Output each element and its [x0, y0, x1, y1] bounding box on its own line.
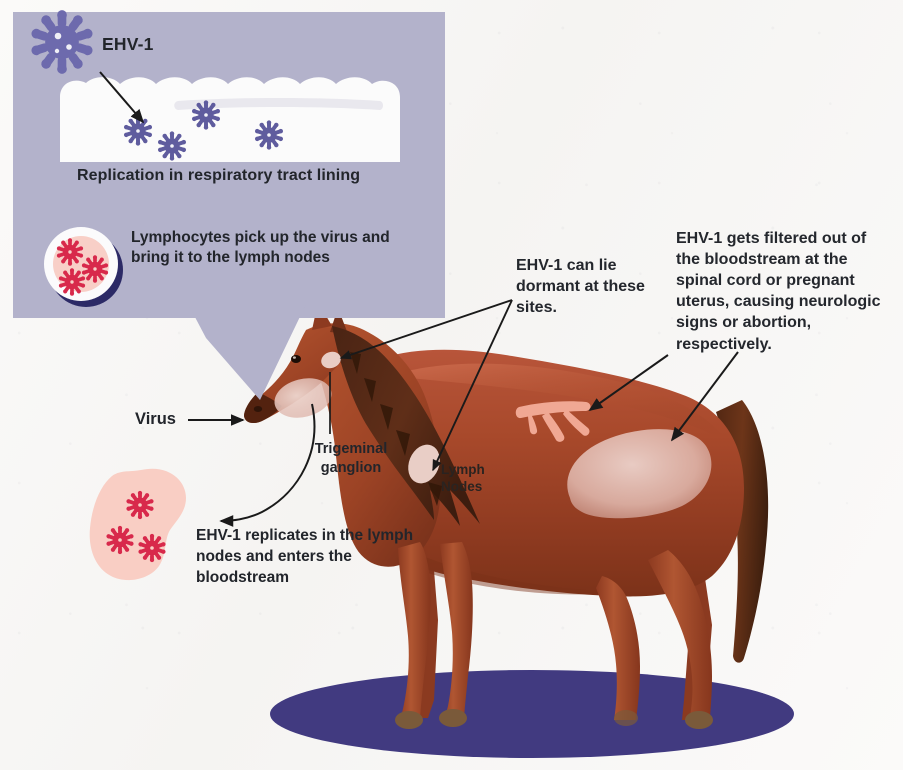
trigeminal-ganglion-marker [319, 349, 343, 371]
horse-tail [716, 400, 768, 663]
lymph-node-icon [90, 469, 186, 580]
uterus-highlight-patch [567, 429, 711, 518]
horse-nostril [254, 406, 262, 412]
lymphocyte-caption: Lymphocytes pick up the virus and bring … [131, 228, 421, 269]
virus-pointer-label: Virus [135, 410, 176, 429]
horse-muzzle [244, 392, 282, 423]
horse-front-leg-2 [440, 542, 473, 722]
arrow-filtered-to-spinal-cord [590, 355, 668, 410]
arrow-dormant-to-lymphnode [433, 300, 512, 470]
ground-shadow-ellipse [270, 670, 794, 758]
lymph-node-marker [403, 440, 446, 488]
horse-mane [332, 326, 480, 526]
filtered-bloodstream-caption: EHV-1 gets filtered out of the bloodstre… [676, 228, 894, 355]
horse-head [244, 327, 356, 423]
replicates-caption: EHV-1 replicates in the lymph nodes and … [196, 526, 426, 589]
info-panel [13, 12, 445, 318]
replication-caption: Replication in respiratory tract lining [77, 167, 360, 185]
arrow-filtered-to-uterus [672, 352, 738, 440]
dormant-sites-caption: EHV-1 can lie dormant at these sites. [516, 256, 656, 318]
spinal-cord-marking [516, 401, 591, 442]
horse-hind-leg-2 [596, 576, 640, 720]
cheek-highlight-patch [270, 373, 335, 424]
ehv1-pathogenesis-diagram: EHV-1 Replication in respiratory tract l… [0, 0, 903, 770]
ehv1-panel-label: EHV-1 [102, 34, 154, 55]
horse-hind-leg [648, 550, 712, 722]
trigeminal-ganglion-label: Trigeminal ganglion [296, 440, 406, 477]
horse-eye [291, 355, 301, 363]
horse-hooves [395, 709, 713, 729]
lymph-nodes-label: Lymph Nodes [441, 461, 511, 495]
